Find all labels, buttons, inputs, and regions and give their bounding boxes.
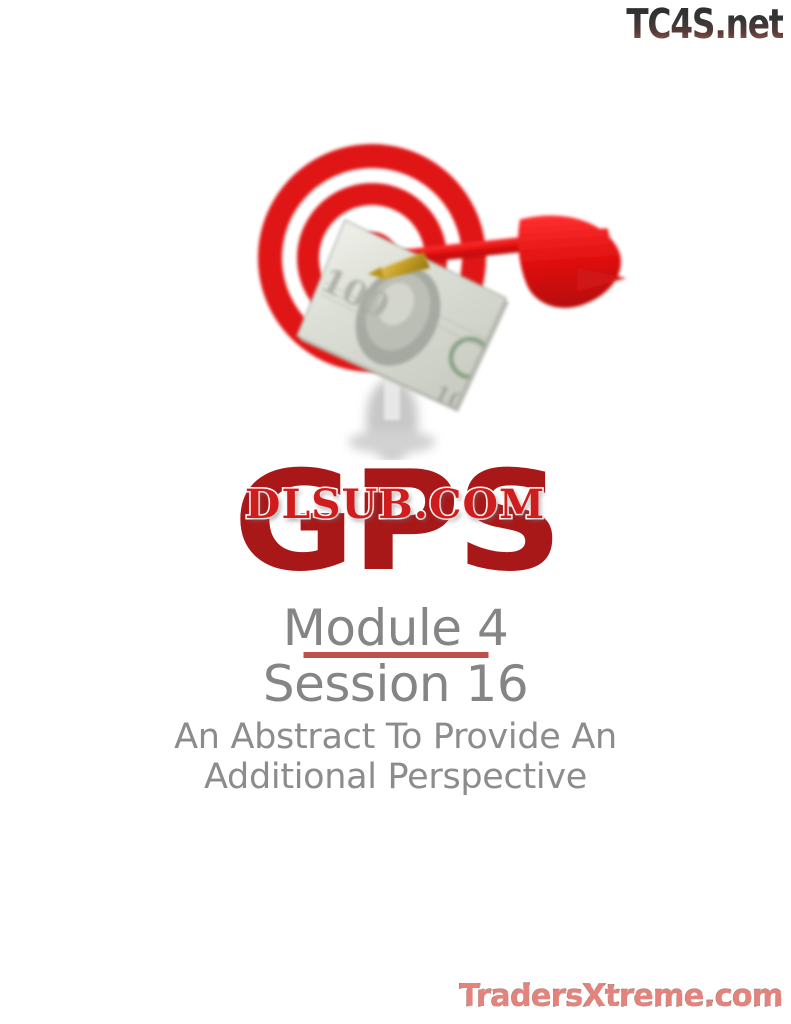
module-title: Module 4 [0,600,791,656]
site-logo-tc4s: TC4S.net [626,2,783,47]
footer-brand-tradersxtreme: TradersXtreme.com [460,980,783,1014]
title-block: Module 4 Session 16 An Abstract To Provi… [0,600,791,797]
subtitle-line-2: Additional Perspective [0,757,791,797]
slide-page: TC4S.net [0,0,791,1024]
svg-text:100: 100 [429,380,482,424]
gps-wordmark-block: GPS [0,452,791,602]
target-money-dart-illustration: 100 100 [0,120,791,460]
gps-wordmark: GPS [233,452,559,592]
title-underline-rule [303,652,488,658]
session-title: Session 16 [0,656,791,712]
hero-artwork: 100 100 [0,120,791,460]
subtitle-line-1: An Abstract To Provide An [0,717,791,757]
